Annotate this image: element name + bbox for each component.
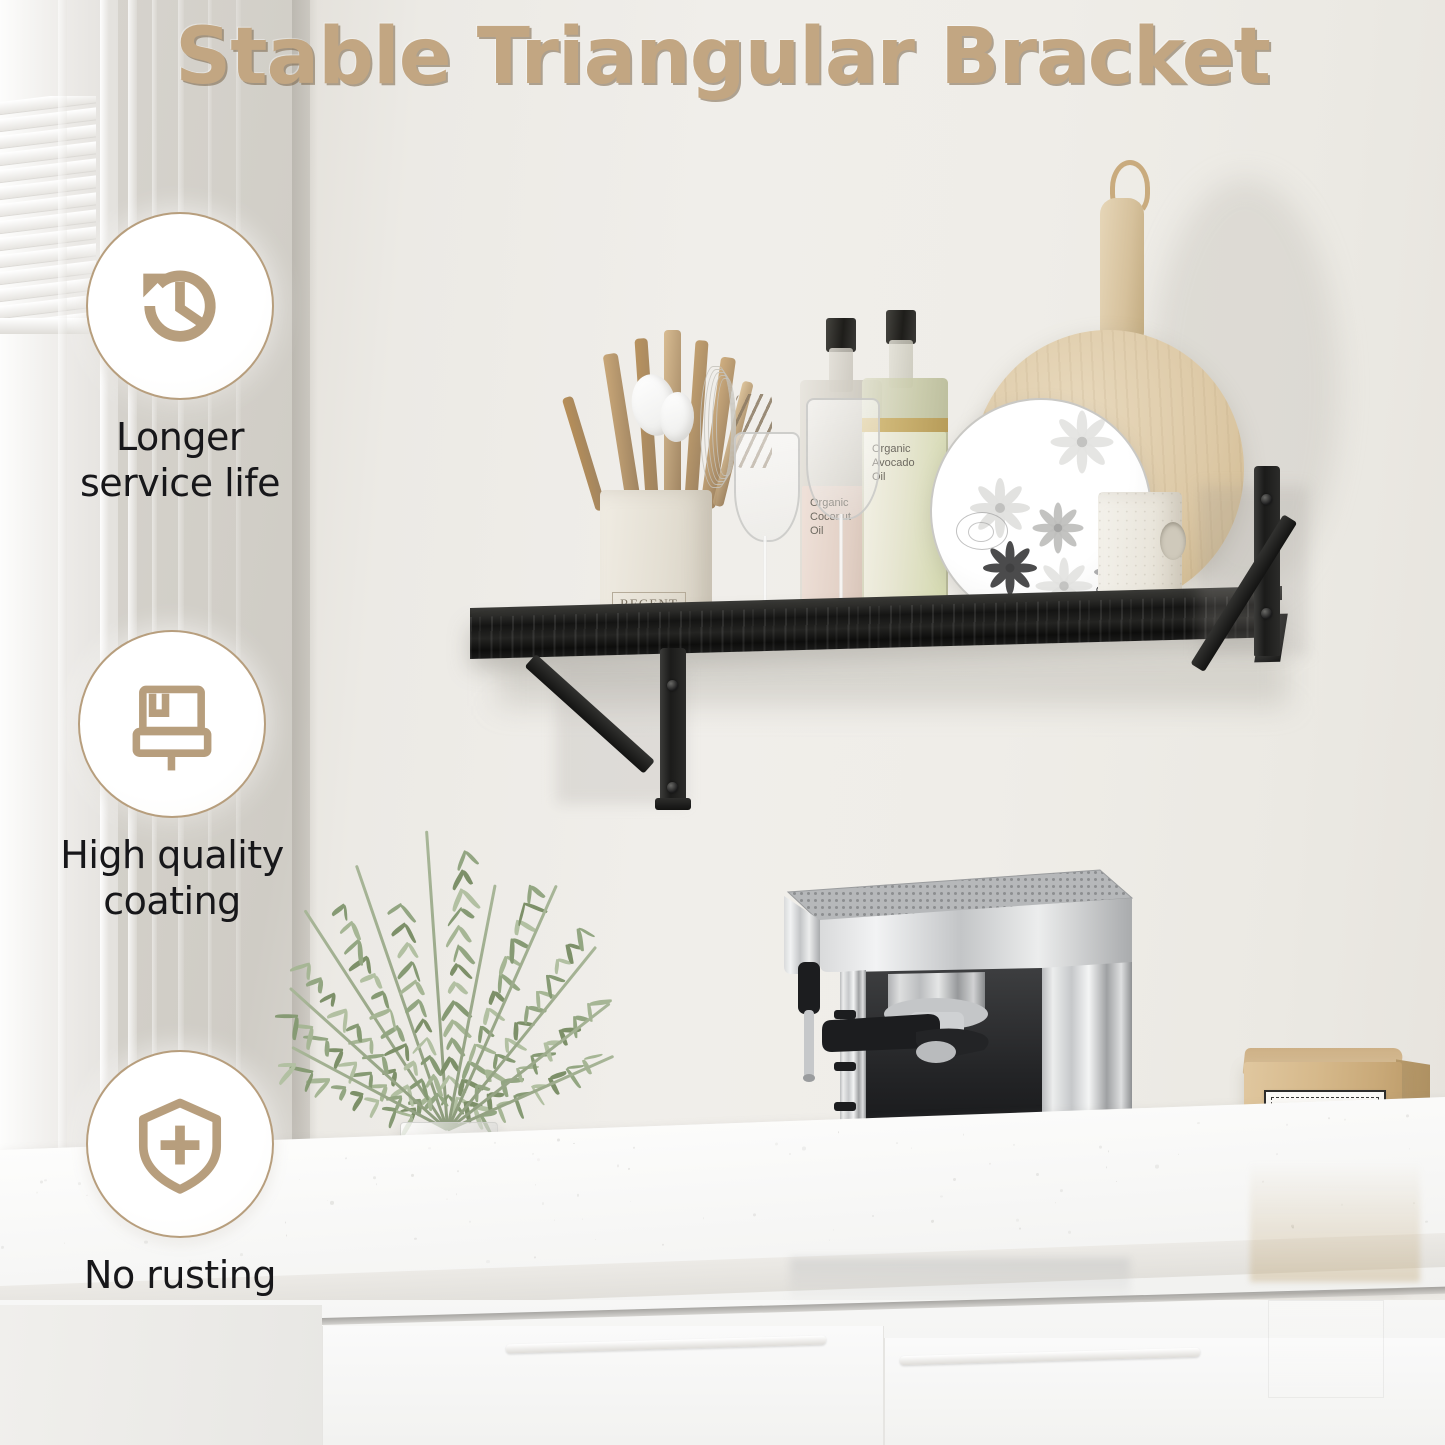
counter-speck xyxy=(554,1219,555,1220)
counter-speck xyxy=(1108,1150,1110,1152)
mug-handle-hole xyxy=(1160,522,1186,560)
counter-speck xyxy=(411,1173,414,1176)
daisy-center xyxy=(1077,437,1088,448)
counter-speck xyxy=(940,1195,942,1198)
counter-speck xyxy=(963,1134,965,1136)
shield-plus-icon xyxy=(126,1090,234,1198)
counter-speck xyxy=(534,1257,536,1259)
counter-speck xyxy=(1068,1231,1071,1234)
feature-label-line1: High quality xyxy=(22,832,322,878)
counter-speck xyxy=(1406,1114,1409,1117)
feature-label: High quality coating xyxy=(22,832,322,924)
counter-speck xyxy=(1409,1149,1410,1150)
cutting-board-handle xyxy=(1100,198,1144,348)
counter-speck xyxy=(1016,1219,1019,1222)
coffee-bag-reflection-label xyxy=(1268,1300,1384,1398)
daisy-center xyxy=(1054,524,1063,533)
history-clock-icon xyxy=(126,252,234,360)
bracket-screw xyxy=(667,782,678,793)
bracket-screw xyxy=(667,680,678,691)
counter-speck xyxy=(1099,1146,1102,1149)
feature-badge xyxy=(78,630,266,818)
counter-speck xyxy=(573,1143,574,1144)
counter-speck xyxy=(1178,1154,1179,1155)
bracket-screw xyxy=(1261,494,1272,505)
page-title: Stable Triangular Bracket xyxy=(0,12,1445,102)
daisy-center xyxy=(1059,581,1069,591)
counter-speck xyxy=(1425,1220,1428,1223)
counter-speck xyxy=(373,1176,376,1179)
counter-speck xyxy=(1344,1119,1346,1121)
feature-badge xyxy=(86,1050,274,1238)
counter-speck xyxy=(1197,1122,1199,1124)
bracket-bottom-foot xyxy=(655,798,691,810)
counter-speck xyxy=(617,1164,619,1166)
feature-label-line1: Longer xyxy=(30,414,330,460)
feature-label-line2: service life xyxy=(30,460,330,506)
counter-speck xyxy=(542,1202,545,1205)
counter-speck xyxy=(456,1194,457,1195)
counter-speck xyxy=(345,1157,347,1160)
counter-speck xyxy=(931,1220,933,1223)
feature-no-rusting: No rusting xyxy=(30,1050,330,1298)
feature-label-line2: coating xyxy=(22,878,322,924)
counter-speck xyxy=(1286,1123,1288,1125)
avocado-oil-label-line1: Organic xyxy=(872,442,940,456)
counter-speck xyxy=(630,1201,631,1202)
counter-speck xyxy=(753,1213,756,1216)
bracket-screw xyxy=(1261,608,1272,619)
avocado-oil-label-line3: Oil xyxy=(872,470,940,484)
avocado-oil-cap xyxy=(886,310,916,344)
avocado-oil-label-line2: Avocado xyxy=(872,456,940,470)
feature-label: No rusting xyxy=(30,1252,330,1298)
counter-speck xyxy=(595,1239,596,1240)
daisy-center xyxy=(1006,564,1015,573)
cabinet-side-panel xyxy=(0,1305,322,1445)
wine-glass-stem xyxy=(839,514,843,610)
counter-speck xyxy=(376,1183,378,1185)
counter-speck xyxy=(662,1244,664,1246)
counter-speck xyxy=(1055,1202,1056,1203)
counter-speck xyxy=(1328,1118,1330,1120)
wine-glass-bowl xyxy=(806,398,880,520)
espresso-machine-reflection xyxy=(790,1258,1130,1302)
counter-speck xyxy=(1116,1181,1117,1182)
feature-longer-service-life: Longer service life xyxy=(30,212,330,506)
counter-speck xyxy=(582,1219,583,1220)
daisy-center xyxy=(995,503,1005,513)
counter-speck xyxy=(1036,1173,1039,1176)
counter-speck xyxy=(469,1220,471,1222)
counter-speck xyxy=(989,1162,992,1165)
counter-speck xyxy=(486,1260,489,1263)
counter-speck xyxy=(802,1147,806,1151)
counter-speck xyxy=(494,1142,496,1144)
counter-speck xyxy=(911,1147,912,1148)
counter-speck xyxy=(535,1184,537,1186)
plate-swirl xyxy=(968,522,994,542)
counter-speck xyxy=(1060,1189,1063,1192)
counter-speck xyxy=(953,1178,956,1181)
counter-speck xyxy=(1276,1153,1278,1155)
paint-brush-icon xyxy=(118,670,226,778)
feature-high-quality-coating: High quality coating xyxy=(22,630,322,924)
feature-label: Longer service life xyxy=(30,414,330,506)
wine-glass-bowl xyxy=(734,432,800,542)
counter-speck xyxy=(457,1170,459,1172)
counter-speck xyxy=(633,1147,635,1149)
counter-speck xyxy=(537,1158,540,1161)
counter-speck xyxy=(833,1230,834,1231)
product-feature-image: REGENT Organic Coconut Oil Organic Avoca… xyxy=(0,0,1445,1445)
counter-speck xyxy=(872,1215,874,1217)
counter-speck xyxy=(428,1147,430,1150)
counter-speck xyxy=(330,1201,334,1205)
counter-speck xyxy=(1155,1165,1158,1169)
feature-badge xyxy=(86,212,274,400)
counter-speck xyxy=(1,1246,4,1249)
olive-leaf xyxy=(369,1040,374,1054)
counter-speck xyxy=(896,1142,899,1145)
counter-speck xyxy=(532,1153,533,1154)
coconut-oil-cap xyxy=(826,318,856,352)
counter-speck xyxy=(414,1237,417,1240)
counter-speck xyxy=(628,1168,630,1170)
counter-speck xyxy=(577,1194,580,1197)
counter-speck xyxy=(1013,1144,1015,1146)
counter-speck xyxy=(789,1153,791,1155)
counter-speck xyxy=(838,1132,840,1134)
counter-speck xyxy=(557,1139,560,1142)
counter-speck xyxy=(703,1217,705,1219)
counter-speck xyxy=(1019,1228,1020,1229)
coffee-bag-reflection xyxy=(1250,1162,1420,1282)
whisk-wire xyxy=(716,378,736,476)
feature-label-line1: No rusting xyxy=(30,1252,330,1298)
counter-speck xyxy=(446,1198,448,1200)
counter-speck xyxy=(1106,1167,1107,1169)
counter-speck xyxy=(829,1240,830,1241)
counter-speck xyxy=(775,1143,778,1146)
